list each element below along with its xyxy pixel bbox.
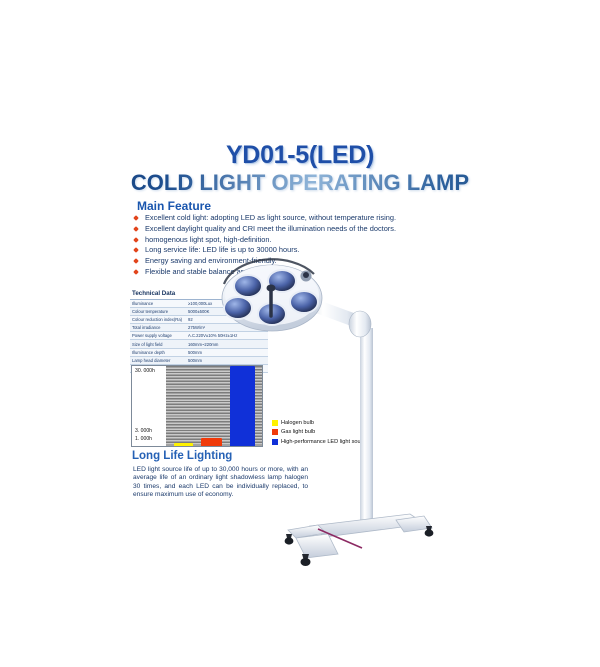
table-cell-key: Colour reduction index(Ra) [130, 317, 186, 322]
bar-halogen [174, 443, 193, 446]
table-cell-key: Lamp head diameter [130, 358, 186, 363]
bullet-diamond-icon [133, 248, 139, 254]
feature-text: Long service life: LED life is up to 300… [145, 245, 463, 256]
y-axis-tick-label: 30. 000h [135, 368, 155, 374]
product-model-title: YD01-5(LED) [0, 141, 600, 170]
y-axis-tick-label: 1. 000h [135, 436, 152, 442]
list-item: Excellent daylight quality and CRI meet … [133, 224, 463, 235]
list-item: homogenous light spot, high-definition. [133, 235, 463, 246]
product-spec-sheet: YD01-5(LED) COLD LIGHT OPERATING LAMP Ma… [0, 0, 600, 667]
main-feature-heading: Main Feature [137, 199, 211, 213]
lamp-base [288, 514, 432, 558]
product-name-subtitle: COLD LIGHT OPERATING LAMP [0, 170, 600, 196]
led-module [224, 297, 252, 319]
table-cell-key: Colour temperature [130, 309, 186, 314]
bullet-diamond-icon [133, 269, 139, 275]
led-module [290, 291, 318, 313]
table-cell-key: Size of light field [130, 342, 186, 347]
table-cell-key: Illuminance [130, 301, 186, 306]
lamp-head-knob-center [303, 272, 309, 278]
lamp-joint [349, 311, 371, 337]
lamp-handle-top [267, 285, 276, 292]
table-cell-key: Illuminance depth [130, 350, 186, 355]
feature-text: Excellent cold light: adopting LED as li… [145, 213, 463, 224]
table-cell-key: Total irradiance [130, 325, 186, 330]
caster-wheel [285, 537, 294, 544]
list-item: Excellent cold light: adopting LED as li… [133, 213, 463, 224]
caster-wheel [301, 558, 311, 566]
feature-text: Excellent daylight quality and CRI meet … [145, 224, 463, 235]
bullet-diamond-icon [133, 215, 139, 221]
caster-wheel [425, 529, 434, 536]
table-cell-key: Power supply voltage [130, 333, 186, 338]
y-axis-tick-label: 3. 000h [135, 428, 152, 434]
lamp-post [360, 328, 373, 518]
bullet-diamond-icon [133, 258, 139, 264]
list-item: Long service life: LED life is up to 300… [133, 245, 463, 256]
feature-text: homogenous light spot, high-definition. [145, 235, 463, 246]
bullet-diamond-icon [133, 237, 139, 243]
bullet-diamond-icon [133, 226, 139, 232]
product-photo-operating-lamp [210, 258, 470, 568]
led-module [234, 275, 262, 297]
